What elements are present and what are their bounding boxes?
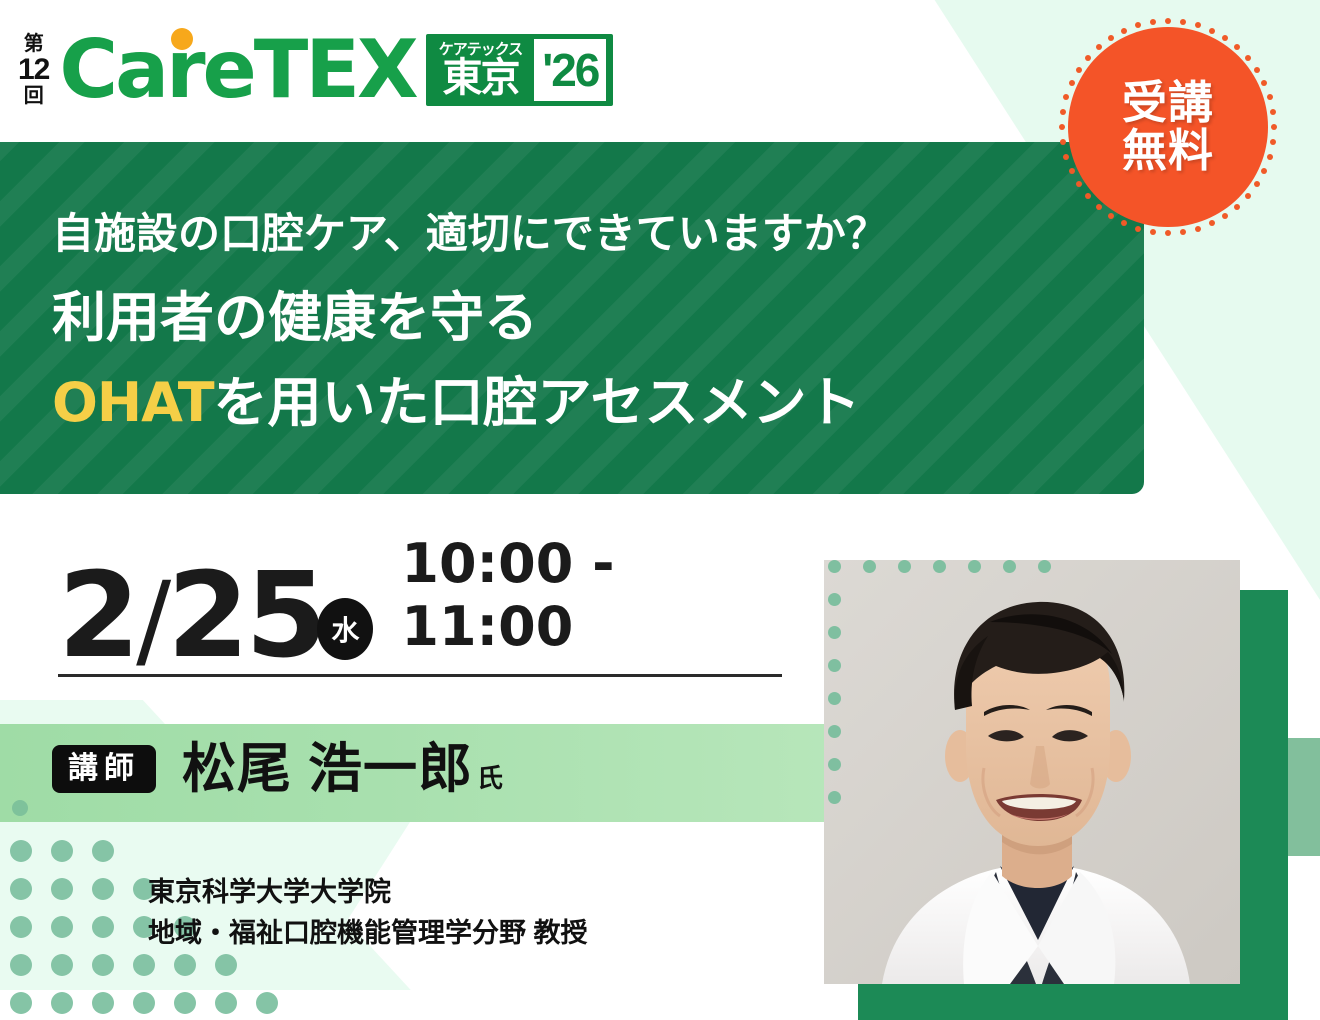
event-time: 10:00 - 11:00 bbox=[401, 532, 788, 658]
badge-circle: 受講 無料 bbox=[1068, 27, 1268, 227]
event-day: 25 bbox=[167, 546, 323, 684]
speaker-role-tag: 講師 bbox=[52, 745, 156, 793]
speaker-photo-wrapper bbox=[824, 560, 1254, 990]
speaker-name-text: 松尾 浩一郎 bbox=[182, 739, 473, 799]
logo-city: 東京 bbox=[442, 58, 518, 98]
caretex-logo: 第 12 回 CareTEX ケアテックス 東京 '26 bbox=[18, 22, 613, 118]
weekday-badge: 水 bbox=[317, 598, 373, 660]
edition-prefix: 第 bbox=[24, 34, 44, 54]
logo-year: '26 bbox=[534, 39, 606, 101]
badge-line-1: 受講 bbox=[1122, 79, 1214, 127]
banner-lead-text: 自施設の口腔ケア、適切にできていますか？ bbox=[52, 200, 1144, 261]
edition-number: 12 bbox=[18, 55, 49, 85]
affiliation-line-1: 東京科学大学大学院 bbox=[148, 872, 588, 913]
affiliation-line-2: 地域・福祉口腔機能管理学分野 教授 bbox=[148, 913, 588, 954]
brand-text: CareTEX bbox=[59, 23, 415, 116]
edition-suffix: 回 bbox=[24, 86, 44, 106]
event-month: 2 bbox=[58, 546, 136, 684]
speaker-affiliation: 東京科学大学大学院 地域・福祉口腔機能管理学分野 教授 bbox=[148, 872, 588, 953]
title-banner: 自施設の口腔ケア、適切にできていますか？ 利用者の健康を守る OHATを用いた口… bbox=[0, 142, 1144, 494]
edition-mark: 第 12 回 bbox=[18, 34, 49, 106]
banner-title-line-2: OHATを用いた口腔アセスメント bbox=[52, 358, 1144, 437]
banner-highlight-ohat: OHAT bbox=[52, 371, 214, 434]
banner-title-line-1: 利用者の健康を守る bbox=[52, 273, 1144, 352]
date-separator: / bbox=[136, 559, 167, 681]
speaker-name-row: 講師 松尾 浩一郎氏 bbox=[52, 742, 504, 796]
speaker-name: 松尾 浩一郎氏 bbox=[182, 742, 504, 796]
speaker-band-dot-icon bbox=[12, 800, 28, 816]
badge-line-2: 無料 bbox=[1122, 127, 1214, 175]
brand-wordmark: CareTEX bbox=[59, 30, 415, 110]
photo-corner-dots bbox=[790, 532, 1050, 722]
schedule-block: 2/25 水 10:00 - 11:00 bbox=[58, 532, 788, 677]
event-date: 2/25 bbox=[58, 561, 323, 670]
free-admission-badge: 受講 無料 bbox=[1058, 17, 1278, 237]
banner-title-line-2-rest: を用いた口腔アセスメント bbox=[214, 373, 861, 433]
logo-city-badge: ケアテックス 東京 '26 bbox=[426, 34, 614, 106]
speaker-honorific: 氏 bbox=[477, 763, 504, 793]
